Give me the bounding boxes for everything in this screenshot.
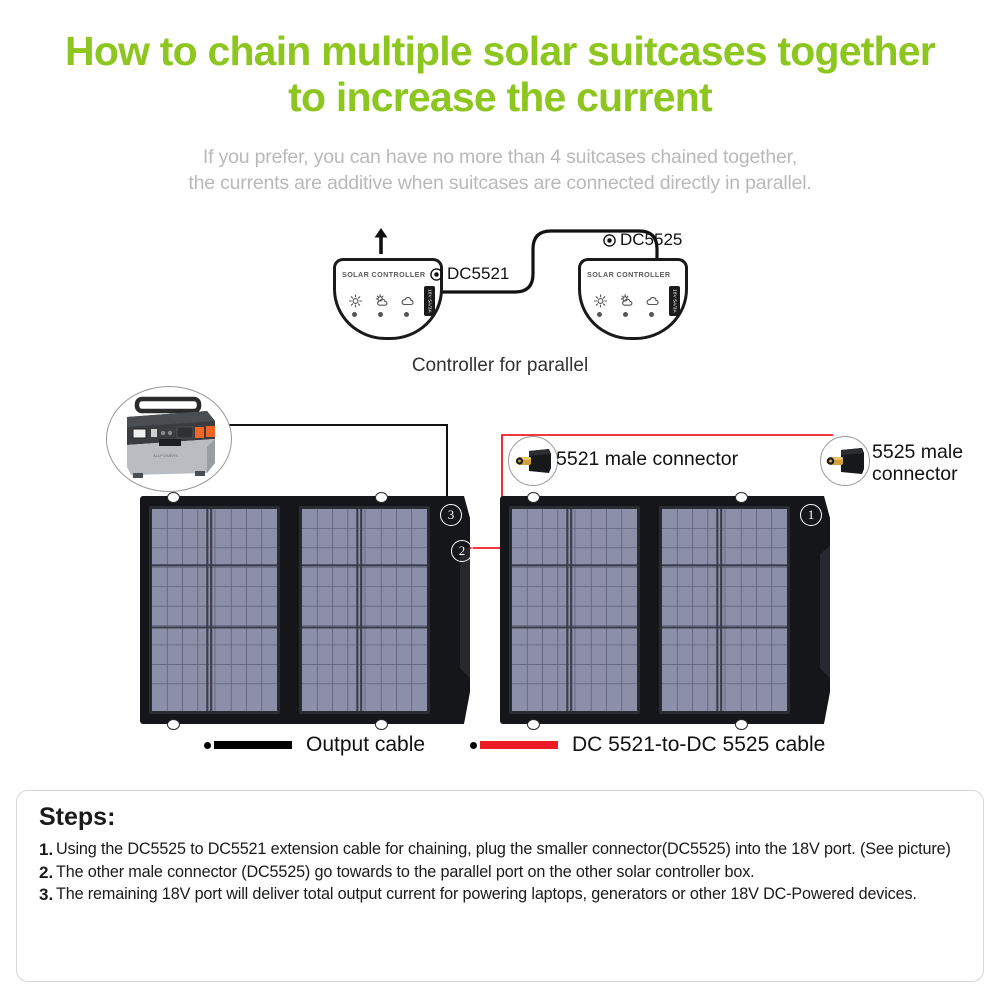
left-controller-port[interactable]: 18V 5A/3A: [424, 286, 435, 316]
step-text: The remaining 18V port will deliver tota…: [56, 884, 969, 906]
sun-cloud-icon: [616, 294, 636, 320]
dc5525-tag: DC5525: [603, 230, 682, 250]
dc5525-tag-label: DC5525: [620, 230, 682, 250]
grommet: [527, 492, 540, 503]
step-number: 3.: [39, 884, 56, 906]
grommet: [375, 492, 388, 503]
cloud-icon: [642, 294, 662, 320]
left-solar-controller: SOLAR CONTROLLER: [333, 258, 443, 340]
step-item: 1. Using the DC5525 to DC5521 extension …: [39, 839, 969, 861]
connector-5525-label: 5525 male connector: [872, 441, 963, 485]
page-subtitle: If you prefer, you can have no more than…: [0, 144, 1000, 196]
led-dot: [352, 312, 357, 317]
led-dot: [649, 312, 654, 317]
output-arrow-icon: [373, 228, 389, 254]
steps-heading: Steps:: [39, 803, 115, 832]
right-controller-label: SOLAR CONTROLLER: [587, 270, 679, 279]
cell-grid: [662, 509, 787, 711]
right-solar-controller: SOLAR CONTROLLER: [578, 258, 688, 340]
cell-grid: [512, 509, 637, 711]
led-dot: [404, 312, 409, 317]
sun-icon: [590, 294, 610, 320]
dc-barrel-connector-icon: [509, 437, 557, 485]
cell-grid: [302, 509, 427, 711]
page-title-line1: How to chain multiple solar suitcases to…: [65, 28, 935, 74]
steps-list: 1. Using the DC5525 to DC5521 extension …: [39, 839, 969, 907]
target-icon: [430, 268, 443, 281]
steps-panel: Steps: 1. Using the DC5525 to DC5521 ext…: [16, 790, 984, 982]
right-controller-indicators: [590, 294, 662, 320]
legend-dot: [204, 742, 211, 749]
legend-label: DC 5521-to-DC 5525 cable: [572, 733, 825, 757]
page-title-line2: to increase the current: [0, 74, 1000, 120]
badge-2: 2: [451, 540, 473, 562]
grommet: [735, 492, 748, 503]
legend-bar: [480, 741, 558, 749]
step-number: 2.: [39, 862, 56, 884]
right-port-label: 18V 5A/3A: [672, 289, 677, 313]
connector-5525-label-line1: 5525 male: [872, 441, 963, 463]
infographic-page: How to chain multiple solar suitcases to…: [0, 0, 1000, 1000]
badge-1: 1: [800, 504, 822, 526]
power-station-callout: ALLPOWERS: [106, 386, 232, 492]
grommet: [527, 719, 540, 730]
sun-cloud-icon: [371, 294, 391, 320]
power-station-icon: ALLPOWERS: [107, 387, 231, 491]
left-controller-indicators: [345, 294, 417, 320]
connector-5521-callout: [508, 436, 558, 486]
panel-cell-left: [509, 506, 640, 714]
led-dot: [597, 312, 602, 317]
legend-item-output-cable: Output cable: [204, 733, 425, 757]
legend-dot: [470, 742, 477, 749]
panel-cell-left: [149, 506, 280, 714]
badge-3: 3: [440, 504, 462, 526]
step-text: Using the DC5525 to DC5521 extension cab…: [56, 839, 969, 861]
dc-barrel-connector-icon: [821, 437, 869, 485]
left-controller-label: SOLAR CONTROLLER: [342, 270, 434, 279]
right-solar-panel: [500, 496, 800, 724]
step-item: 2. The other male connector (DC5525) go …: [39, 862, 969, 884]
panel-cell-right: [299, 506, 430, 714]
led-dot: [378, 312, 383, 317]
dc5521-tag-label: DC5521: [447, 264, 509, 284]
svg-text:ALLPOWERS: ALLPOWERS: [153, 453, 178, 458]
left-solar-panel: [140, 496, 440, 724]
grommet: [735, 719, 748, 730]
page-subtitle-line1: If you prefer, you can have no more than…: [0, 144, 1000, 170]
grommet: [167, 719, 180, 730]
sun-icon: [345, 294, 365, 320]
step-item: 3. The remaining 18V port will deliver t…: [39, 884, 969, 906]
legend-label: Output cable: [306, 733, 425, 757]
controller-caption: Controller for parallel: [0, 355, 1000, 377]
cloud-icon: [397, 294, 417, 320]
page-title: How to chain multiple solar suitcases to…: [0, 28, 1000, 120]
step-text: The other male connector (DC5525) go tow…: [56, 862, 969, 884]
connector-5521-label: 5521 male connector: [556, 448, 738, 470]
left-port-label: 18V 5A/3A: [427, 289, 432, 313]
right-controller-port[interactable]: 18V 5A/3A: [669, 286, 680, 316]
panel-cell-right: [659, 506, 790, 714]
controller-link-cable: [0, 222, 1000, 362]
page-subtitle-line2: the currents are additive when suitcases…: [0, 170, 1000, 196]
dc5521-tag: DC5521: [430, 264, 509, 284]
connector-5525-callout: [820, 436, 870, 486]
step-number: 1.: [39, 839, 56, 861]
target-icon: [603, 234, 616, 247]
connector-5525-label-line2: connector: [872, 463, 963, 485]
cell-grid: [152, 509, 277, 711]
grommet: [167, 492, 180, 503]
legend-item-dc-cable: DC 5521-to-DC 5525 cable: [470, 733, 825, 757]
led-dot: [623, 312, 628, 317]
grommet: [375, 719, 388, 730]
legend-bar: [214, 741, 292, 749]
